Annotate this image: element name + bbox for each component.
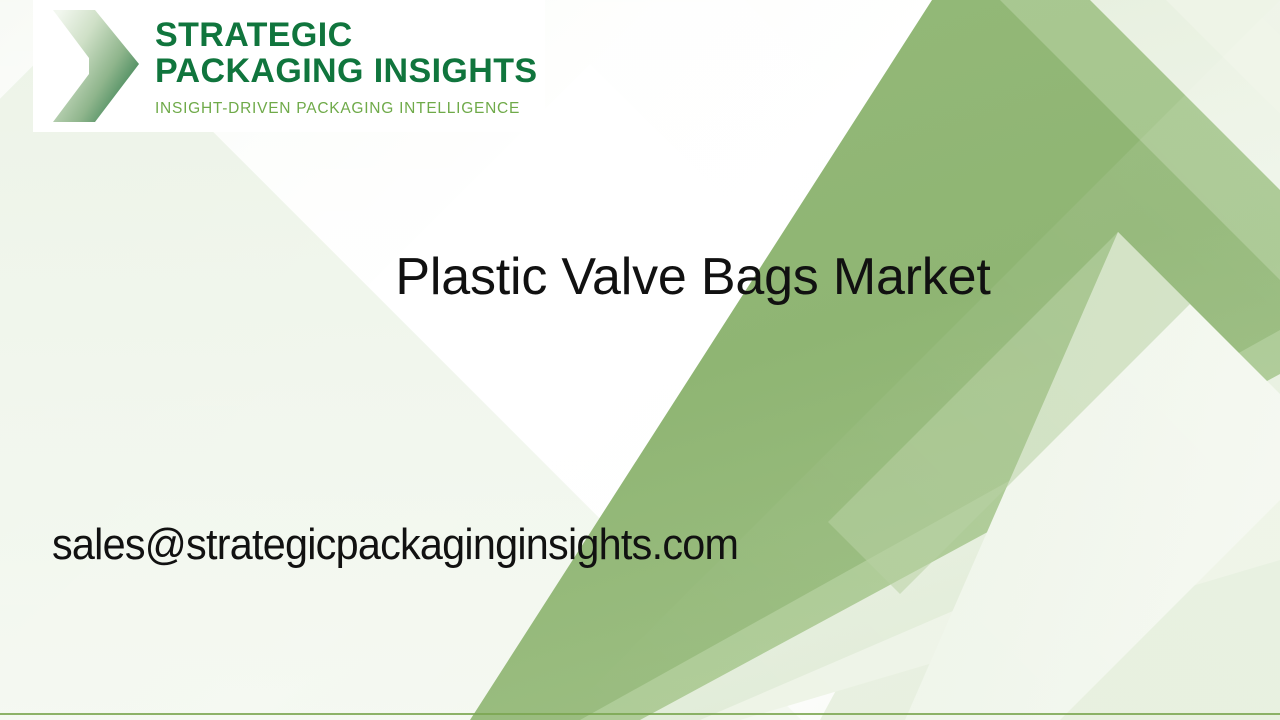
logo-wordmark: STRATEGIC PACKAGING INSIGHTS INSIGHT-DRI… <box>155 15 537 118</box>
page-title: Plastic Valve Bags Market <box>300 252 1086 302</box>
logo-line-2: PACKAGING INSIGHTS <box>155 53 537 89</box>
slide-canvas: STRATEGIC PACKAGING INSIGHTS INSIGHT-DRI… <box>0 0 1280 720</box>
bottom-accent-rule <box>0 713 1280 715</box>
contact-email: sales@strategicpackaginginsights.com <box>52 516 738 574</box>
chevron-right-icon <box>39 4 147 128</box>
logo-tagline: INSIGHT-DRIVEN PACKAGING INTELLIGENCE <box>155 100 537 118</box>
logo-line-1: STRATEGIC <box>155 17 537 53</box>
logo-lockup: STRATEGIC PACKAGING INSIGHTS INSIGHT-DRI… <box>33 0 545 132</box>
